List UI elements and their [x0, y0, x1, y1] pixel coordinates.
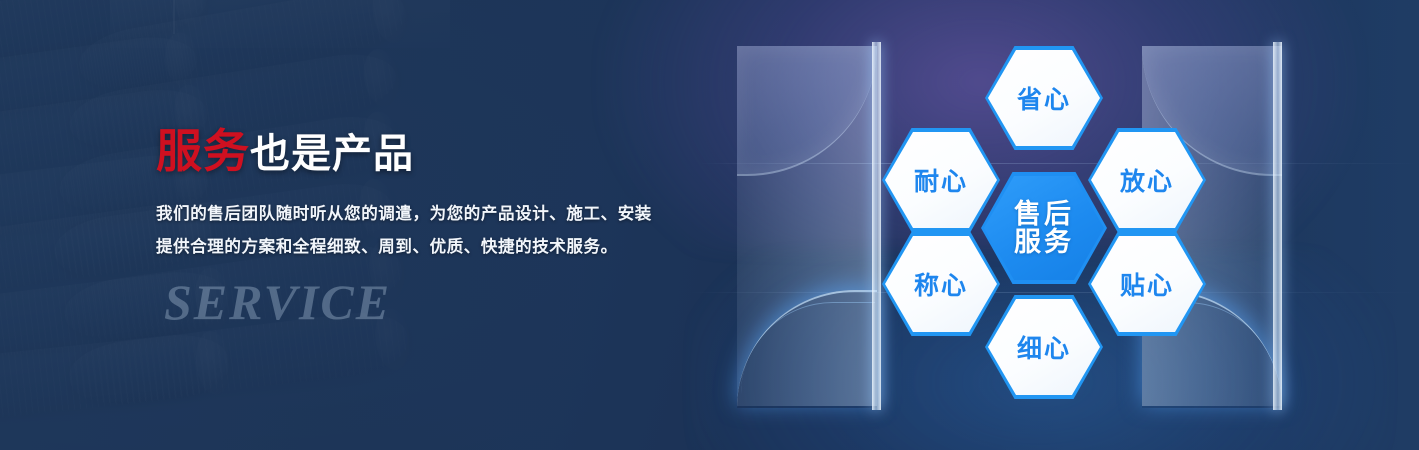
hex-label-top: 省心 [1017, 80, 1071, 116]
hex-label-upper-right: 放心 [1120, 162, 1174, 198]
page-title: 服务也是产品 [156, 126, 726, 178]
hex-label-lower-right: 贴心 [1120, 266, 1174, 302]
hex-node-bottom[interactable]: 细心 [985, 295, 1103, 399]
watermark-service: SERVICE [164, 273, 726, 331]
glass-edge-right [1273, 42, 1282, 410]
hex-node-top[interactable]: 省心 [985, 46, 1103, 150]
hex-label-upper-left: 耐心 [914, 162, 968, 198]
hex-label-center: 售后服务 [1014, 200, 1074, 257]
banner-text-block: 服务也是产品 我们的售后团队随时听从您的调遣，为您的产品设计、施工、安装 提供合… [156, 126, 726, 331]
hex-node-lower-right[interactable]: 贴心 [1088, 232, 1206, 336]
banner-subtitle: 我们的售后团队随时听从您的调遣，为您的产品设计、施工、安装 提供合理的方案和全程… [156, 198, 726, 266]
hex-center-line-2: 服务 [1014, 227, 1074, 257]
hex-diagram: 省心 耐心 放心 售后服务 称心 贴心 细心 [875, 46, 1215, 406]
hex-node-lower-left[interactable]: 称心 [882, 232, 1000, 336]
glass-cylinder-left [737, 46, 877, 406]
service-banner: 服务也是产品 我们的售后团队随时听从您的调遣，为您的产品设计、施工、安装 提供合… [0, 0, 1419, 450]
headline-emphasis: 服务 [156, 125, 250, 177]
hex-label-lower-left: 称心 [914, 266, 968, 302]
hex-label-bottom: 细心 [1017, 329, 1071, 365]
hex-center-line-1: 售后 [1014, 199, 1074, 229]
subtitle-line-1: 我们的售后团队随时听从您的调遣，为您的产品设计、施工、安装 [156, 198, 726, 232]
headline-rest: 也是产品 [250, 132, 414, 176]
subtitle-line-2: 提供合理的方案和全程细致、周到、优质、快捷的技术服务。 [156, 231, 726, 265]
